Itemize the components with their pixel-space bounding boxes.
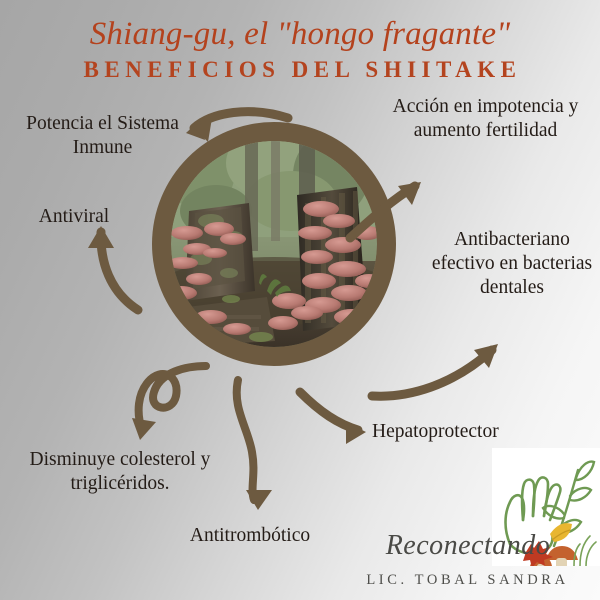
benefit-label-inmune: Potencia el Sistema Inmune: [0, 112, 205, 160]
benefit-label-antibacteriano: Antibacteriano efectivo en bacterias den…: [430, 228, 594, 299]
brand-byline: LIC. TOBAL SANDRA: [330, 572, 600, 589]
page-title: Shiang-gu, el "hongo fragante": [0, 14, 600, 54]
arrow-to-antitrombotico: [237, 380, 272, 510]
arrow-to-hepatoprotector: [300, 392, 366, 444]
benefit-label-antiviral: Antiviral: [8, 205, 140, 229]
benefit-label-fertilidad: Acción en impotencia y aumento fertilida…: [378, 95, 593, 143]
page-subtitle: BENEFICIOS DEL SHIITAKE: [0, 56, 600, 84]
arrow-to-antibacteriano: [372, 344, 498, 396]
benefit-label-antitrombotico: Antitrombótico: [160, 524, 340, 548]
arrow-to-antiviral: [88, 226, 138, 310]
title-block: Shiang-gu, el "hongo fragante" BENEFICIO…: [0, 14, 600, 84]
mushroom-photo: [171, 141, 377, 347]
arrow-to-colesterol: [132, 366, 206, 440]
benefit-label-colesterol: Disminuye colesterol y triglicéridos.: [4, 448, 236, 496]
brand-name: Reconectando: [372, 530, 564, 562]
benefit-label-hepatoprotector: Hepatoprotector: [372, 420, 562, 444]
infographic-canvas: Shiang-gu, el "hongo fragante" BENEFICIO…: [0, 0, 600, 600]
